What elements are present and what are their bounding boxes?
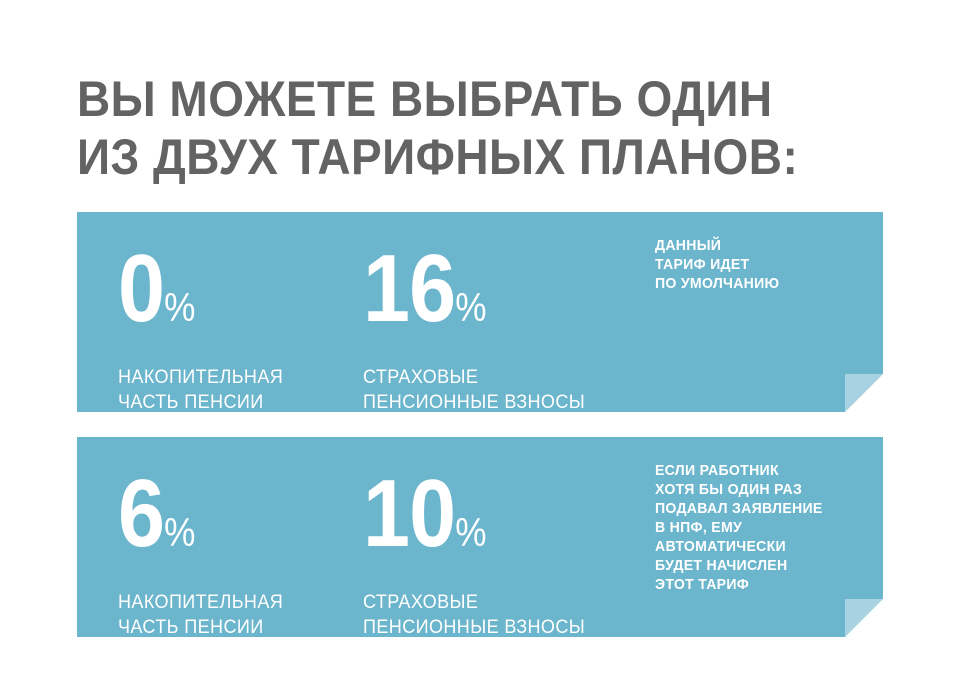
percent-sign: % [455,511,486,555]
folded-corner-cut [845,599,883,637]
stat-value-insurance-2: 10% [363,473,569,574]
stat-label-funded-part-2: НАКОПИТЕЛЬНАЯ ЧАСТЬ ПЕНСИИ [118,590,283,640]
stat-block-insurance-2: 10% СТРАХОВЫЕ ПЕНСИОННЫЕ ВЗНОСЫ [363,473,597,640]
stat-number-text: 10 [363,460,455,567]
infographic-page: ВЫ МОЖЕТЕ ВЫБРАТЬ ОДИН ИЗ ДВУХ ТАРИФНЫХ … [0,0,960,688]
folded-corner-cut [845,374,883,412]
percent-sign: % [164,286,195,330]
stat-value-insurance-1: 16% [363,248,569,349]
stat-label-insurance-2: СТРАХОВЫЕ ПЕНСИОННЫЕ ВЗНОСЫ [363,590,585,640]
stat-number-text: 16 [363,235,455,342]
page-title-line-2: ИЗ ДВУХ ТАРИФНЫХ ПЛАНОВ: [77,128,841,186]
page-title: ВЫ МОЖЕТЕ ВЫБРАТЬ ОДИН ИЗ ДВУХ ТАРИФНЫХ … [77,70,841,186]
folded-corner-2 [845,599,883,637]
stat-block-funded-part-1: 0% НАКОПИТЕЛЬНАЯ ЧАСТЬ ПЕНСИИ [118,248,292,415]
stat-block-funded-part-2: 6% НАКОПИТЕЛЬНАЯ ЧАСТЬ ПЕНСИИ [118,473,292,640]
page-title-line-1: ВЫ МОЖЕТЕ ВЫБРАТЬ ОДИН [77,70,841,128]
stat-value-funded-part-1: 0% [118,248,271,349]
stat-value-funded-part-2: 6% [118,473,271,574]
folded-corner-1 [845,374,883,412]
stat-block-insurance-1: 16% СТРАХОВЫЕ ПЕНСИОННЫЕ ВЗНОСЫ [363,248,597,415]
tariff-plan-card-2: 6% НАКОПИТЕЛЬНАЯ ЧАСТЬ ПЕНСИИ 10% СТРАХО… [77,437,883,637]
plan-note-1: ДАННЫЙ ТАРИФ ИДЕТ ПО УМОЛЧАНИЮ [655,236,857,293]
percent-sign: % [164,511,195,555]
tariff-plan-card-1: 0% НАКОПИТЕЛЬНАЯ ЧАСТЬ ПЕНСИИ 16% СТРАХО… [77,212,883,412]
plan-note-2: ЕСЛИ РАБОТНИК ХОТЯ БЫ ОДИН РАЗ ПОДАВАЛ З… [655,461,857,594]
stat-number-text: 6 [118,460,164,567]
stat-label-insurance-1: СТРАХОВЫЕ ПЕНСИОННЫЕ ВЗНОСЫ [363,365,585,415]
stat-number-text: 0 [118,235,164,342]
stat-label-funded-part-1: НАКОПИТЕЛЬНАЯ ЧАСТЬ ПЕНСИИ [118,365,283,415]
percent-sign: % [455,286,486,330]
